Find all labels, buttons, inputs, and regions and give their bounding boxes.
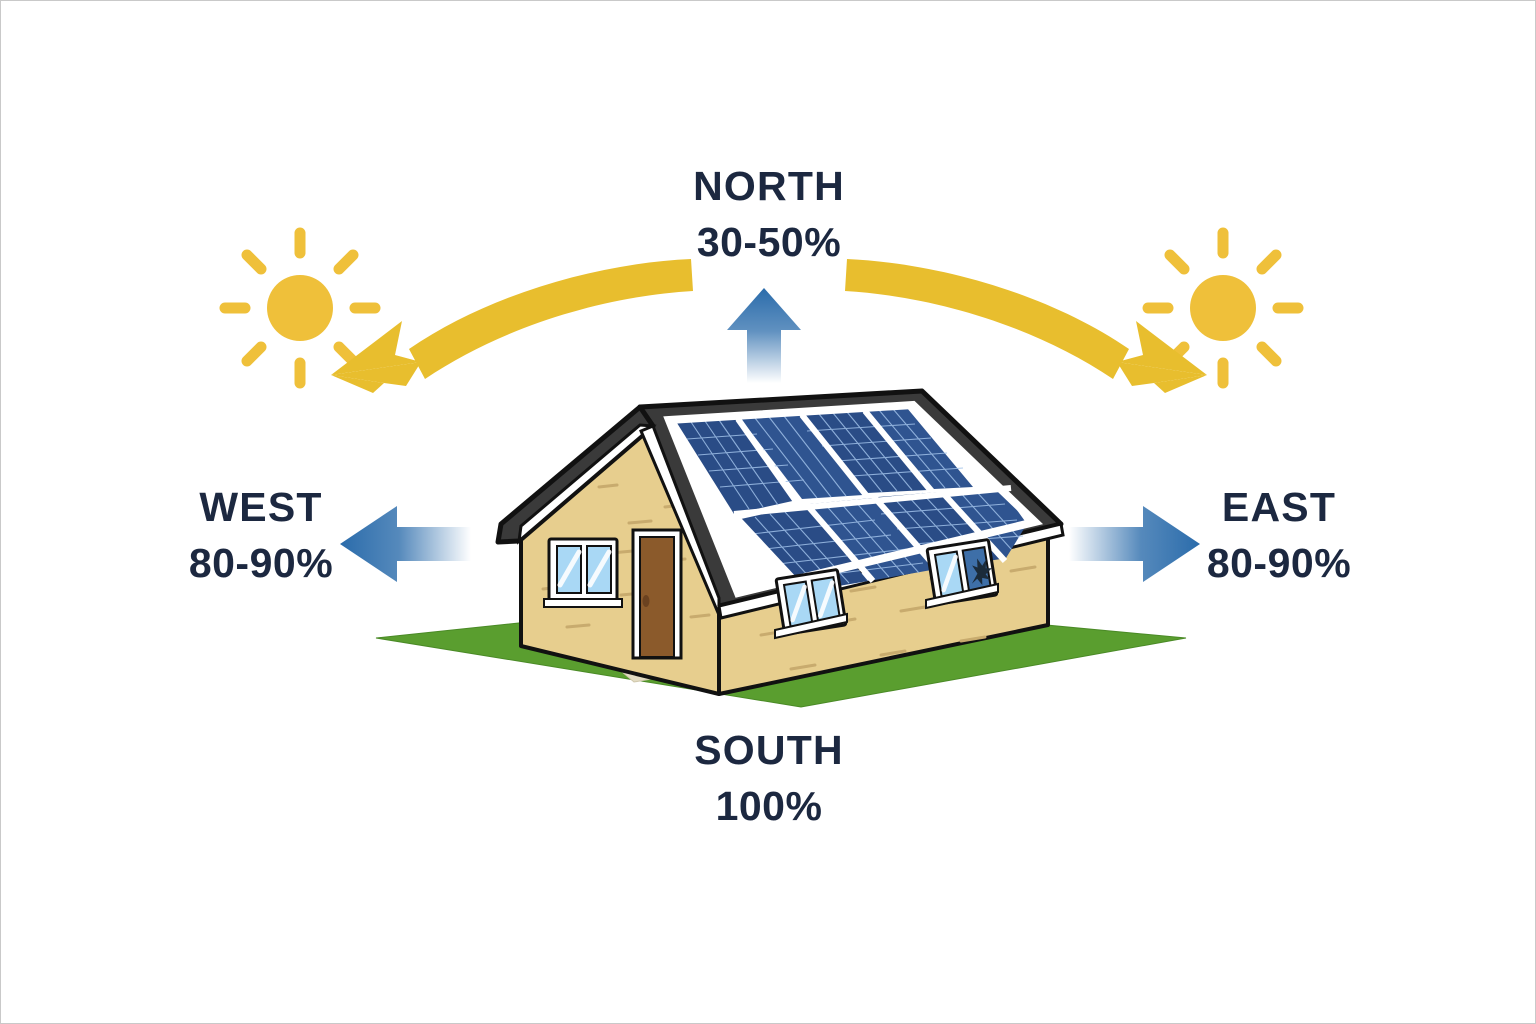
- window: [926, 539, 998, 608]
- door: [633, 530, 681, 658]
- direction-label-west: WEST 80-90%: [61, 485, 461, 587]
- direction-value-east: 80-90%: [1079, 541, 1479, 587]
- diagram-canvas: NORTH 30-50% SOUTH 100% WEST 80-90% EAST…: [0, 0, 1536, 1024]
- direction-label-north: NORTH 30-50%: [569, 164, 969, 266]
- direction-value-west: 80-90%: [61, 541, 461, 587]
- door-handle: [643, 595, 650, 607]
- direction-name-west: WEST: [61, 485, 461, 531]
- direction-value-south: 100%: [569, 784, 969, 830]
- direction-label-south: SOUTH 100%: [569, 728, 969, 830]
- direction-label-east: EAST 80-90%: [1079, 485, 1479, 587]
- direction-name-east: EAST: [1079, 485, 1479, 531]
- window: [544, 539, 622, 607]
- direction-name-south: SOUTH: [569, 728, 969, 774]
- window: [775, 569, 847, 638]
- direction-name-north: NORTH: [569, 164, 969, 210]
- direction-value-north: 30-50%: [569, 220, 969, 266]
